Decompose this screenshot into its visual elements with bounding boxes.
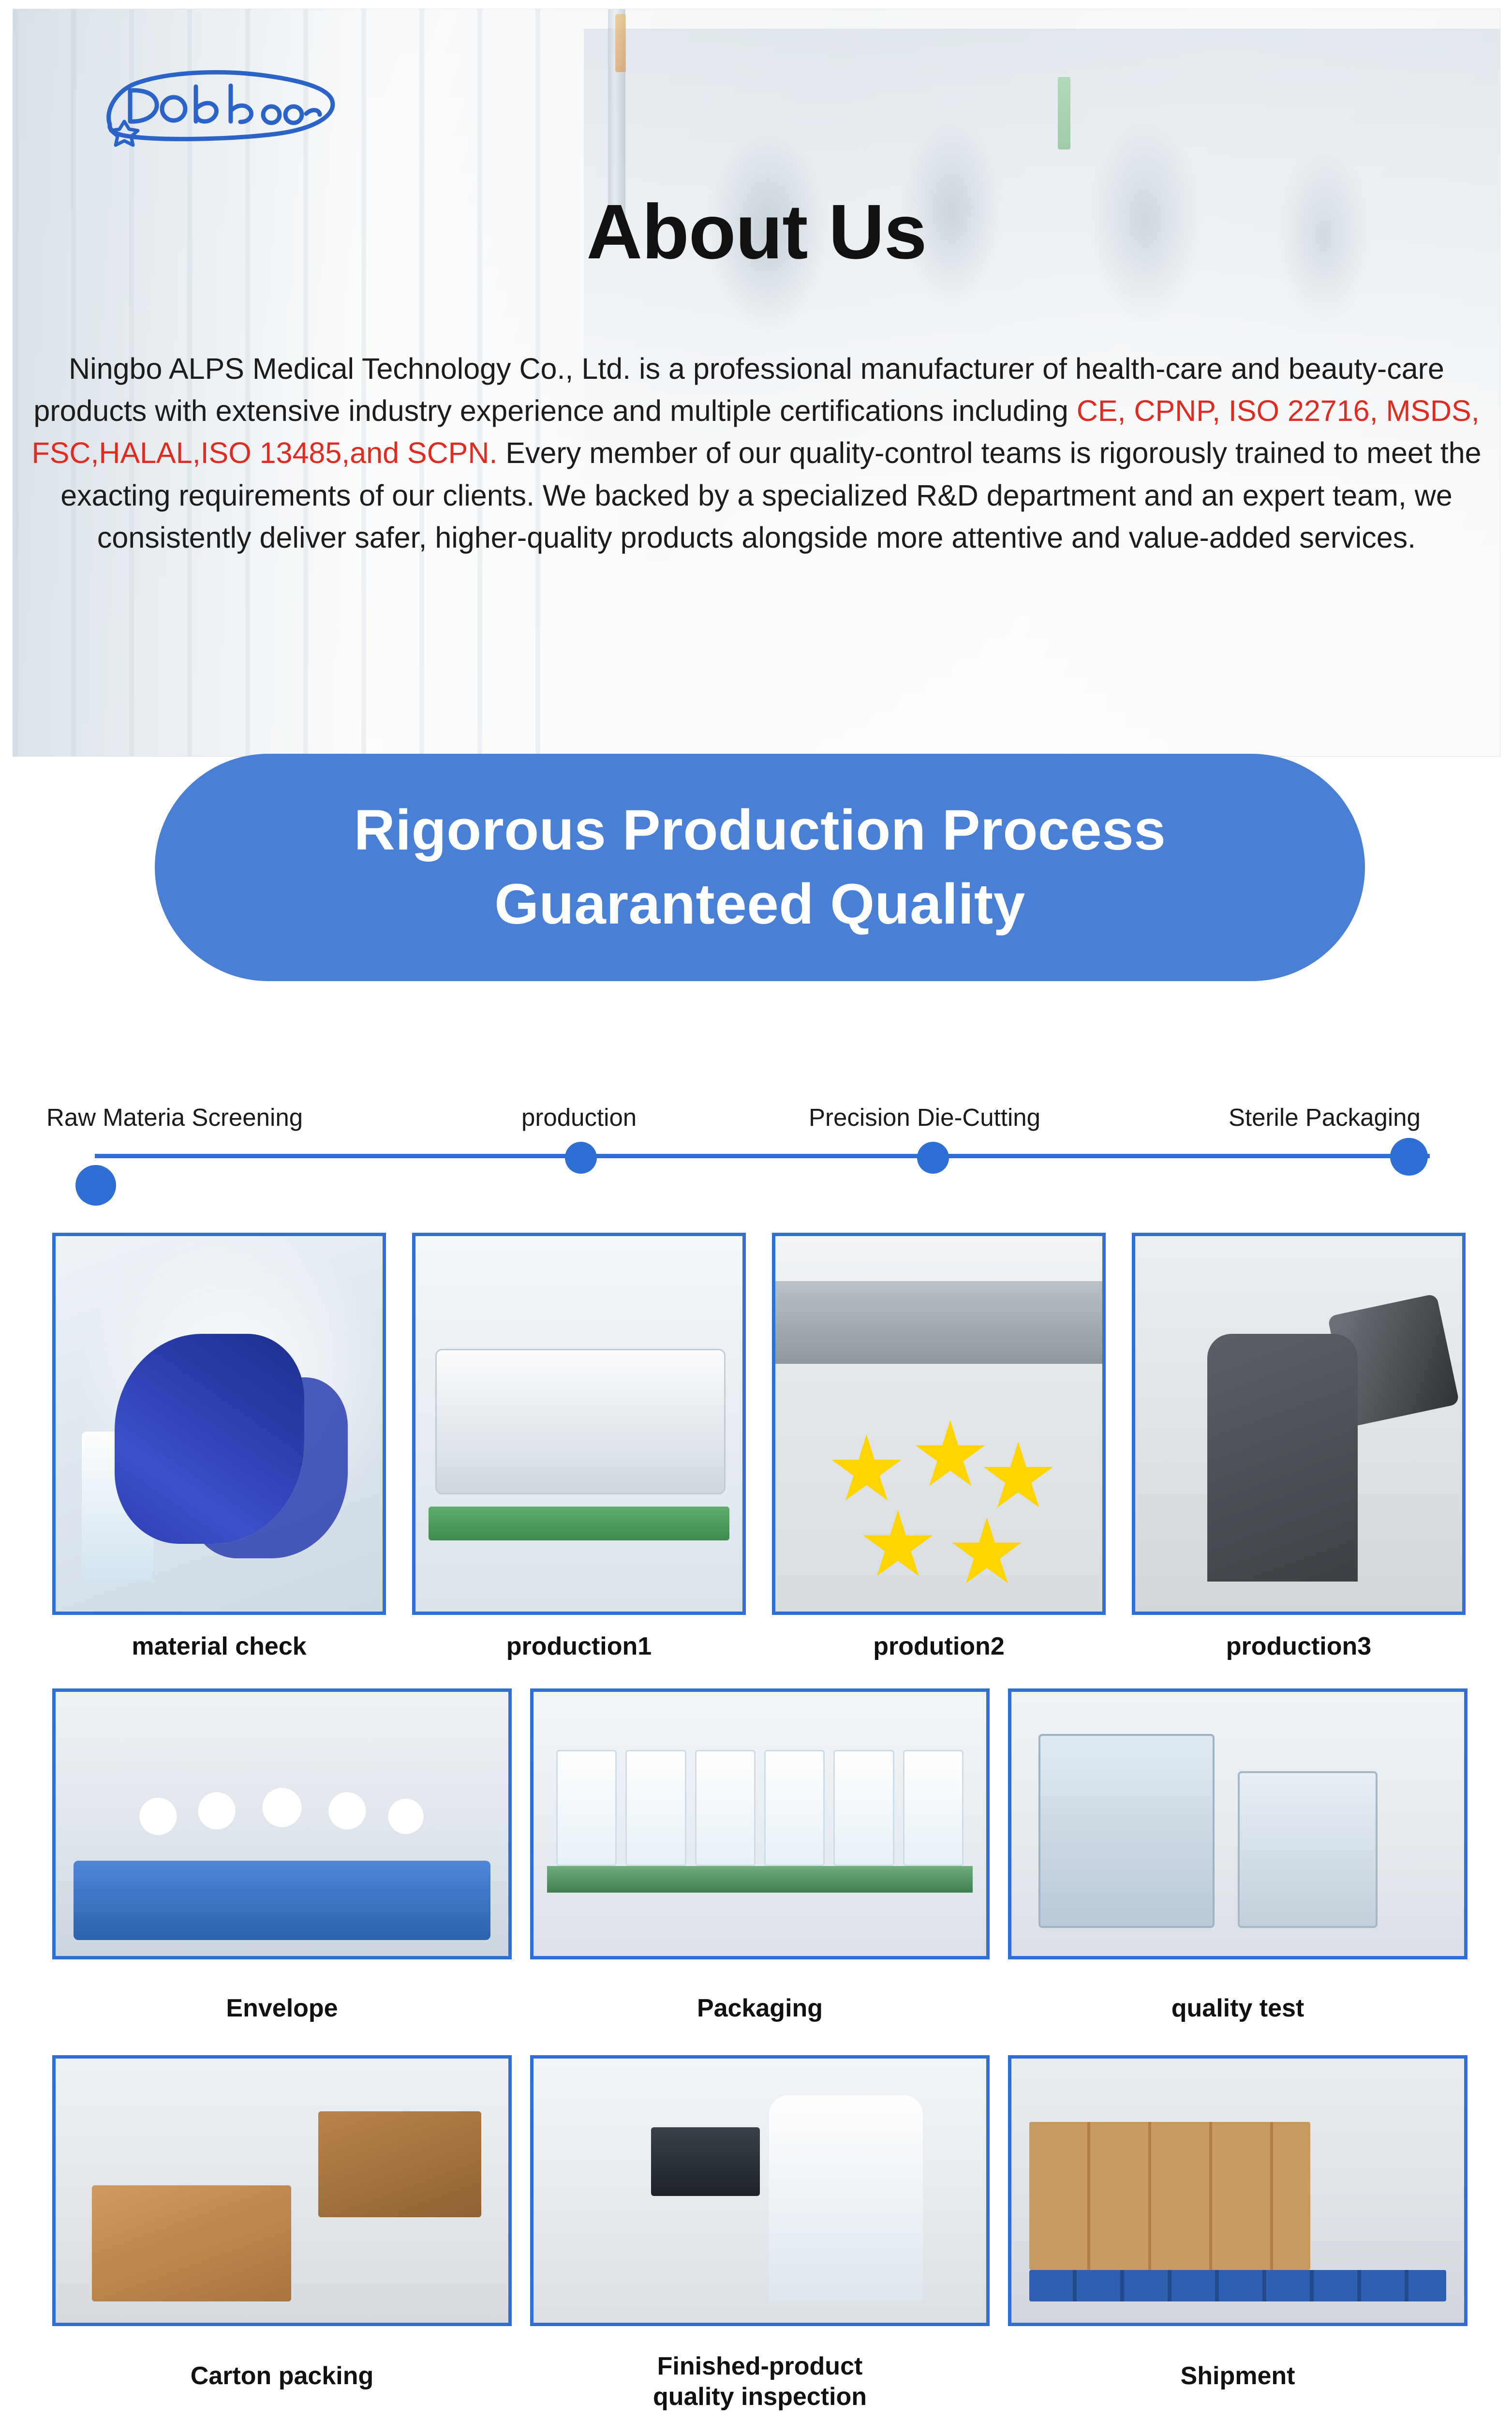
- gallery-image-material-check[interactable]: [52, 1233, 386, 1615]
- brand-logo: [101, 67, 343, 149]
- gallery-image-finished-product-inspection[interactable]: [530, 2055, 990, 2326]
- star-shape: [982, 1442, 1054, 1514]
- package-item: [625, 1750, 686, 1866]
- gallery-image-packaging[interactable]: [530, 1688, 990, 1959]
- gallery-caption-shipment: Shipment: [1008, 2361, 1468, 2391]
- pipe-indicator-orange: [615, 14, 626, 72]
- production-line-machine-photo: [415, 1236, 742, 1612]
- timeline-dot-3: [917, 1142, 949, 1174]
- gallery-caption-production3: production3: [1132, 1631, 1466, 1662]
- page-title: About Us: [13, 193, 1500, 270]
- gloved-hands-pipetting-sample-photo: [56, 1236, 383, 1612]
- star-shape: [914, 1420, 987, 1493]
- gallery-caption-finished-product-inspection: Finished-product quality inspection: [530, 2351, 990, 2413]
- package-item: [764, 1750, 825, 1866]
- gallery-caption-material-check: material check: [52, 1631, 386, 1662]
- gallery-caption-prodution2: prodution2: [772, 1631, 1106, 1662]
- package-item: [833, 1750, 894, 1866]
- gallery-caption-quality-test: quality test: [1008, 1993, 1468, 2024]
- package-item: [903, 1750, 964, 1866]
- timeline-label-2: production: [521, 1103, 637, 1132]
- package-row: [556, 1750, 964, 1866]
- timeline-label-4: Sterile Packaging: [1229, 1103, 1421, 1132]
- packaged-boxes-conveyor-photo: [534, 1692, 986, 1956]
- caption-line-2: quality inspection: [530, 2382, 990, 2412]
- timeline-dot-4: [1390, 1138, 1428, 1176]
- gallery-image-prodution2[interactable]: [772, 1233, 1106, 1615]
- timeline-label-3: Precision Die-Cutting: [809, 1103, 1040, 1132]
- timeline-dot-1: [75, 1165, 116, 1206]
- star-shape: [830, 1434, 903, 1507]
- gallery-image-quality-test[interactable]: [1008, 1688, 1468, 1959]
- hero-section: About Us Ningbo ALPS Medical Technology …: [13, 9, 1500, 757]
- gallery-image-carton-packing[interactable]: [52, 2055, 512, 2326]
- slogan-line-2: Guaranteed Quality: [354, 867, 1166, 941]
- process-timeline: Raw Materia Screening production Precisi…: [0, 1064, 1512, 1190]
- workers-packing-sachets-photo: [56, 1692, 508, 1956]
- slogan-line-1: Rigorous Production Process: [354, 793, 1166, 867]
- workers-packing-cartons-photo: [56, 2059, 508, 2323]
- package-item: [695, 1750, 756, 1866]
- gallery-caption-production1: production1: [412, 1631, 746, 1662]
- inspector-with-monitor-photo: [534, 2059, 986, 2323]
- gallery-image-shipment[interactable]: [1008, 2055, 1468, 2326]
- gallery-image-production1[interactable]: [412, 1233, 746, 1615]
- timeline-track: [95, 1154, 1430, 1158]
- about-paragraph: Ningbo ALPS Medical Technology Co., Ltd.…: [28, 348, 1485, 559]
- package-item: [556, 1750, 617, 1866]
- slogan-text: Rigorous Production Process Guaranteed Q…: [354, 793, 1166, 942]
- timeline-dot-2: [565, 1142, 597, 1174]
- pipe-indicator-green: [1058, 77, 1070, 149]
- gallery-image-envelope[interactable]: [52, 1688, 512, 1959]
- gallery-caption-envelope: Envelope: [52, 1993, 512, 2024]
- gallery-caption-carton-packing: Carton packing: [52, 2361, 512, 2391]
- yellow-stars-group: [815, 1416, 1076, 1596]
- slogan-banner: Rigorous Production Process Guaranteed Q…: [155, 754, 1365, 981]
- laboratory-test-chambers-photo: [1011, 1692, 1464, 1956]
- operator-at-roll-machine-photo: [1135, 1236, 1462, 1612]
- star-shape: [861, 1510, 934, 1583]
- timeline-label-1: Raw Materia Screening: [46, 1103, 303, 1132]
- gallery-caption-packaging: Packaging: [530, 1993, 990, 2024]
- star-shape: [950, 1517, 1023, 1590]
- about-us-page: About Us Ningbo ALPS Medical Technology …: [0, 0, 1512, 2419]
- caption-line-1: Finished-product: [530, 2351, 990, 2382]
- die-cutting-yellow-stars-photo: [775, 1236, 1102, 1612]
- gallery-image-production3[interactable]: [1132, 1233, 1466, 1615]
- warehouse-pallets-stacked-photo: [1011, 2059, 1464, 2323]
